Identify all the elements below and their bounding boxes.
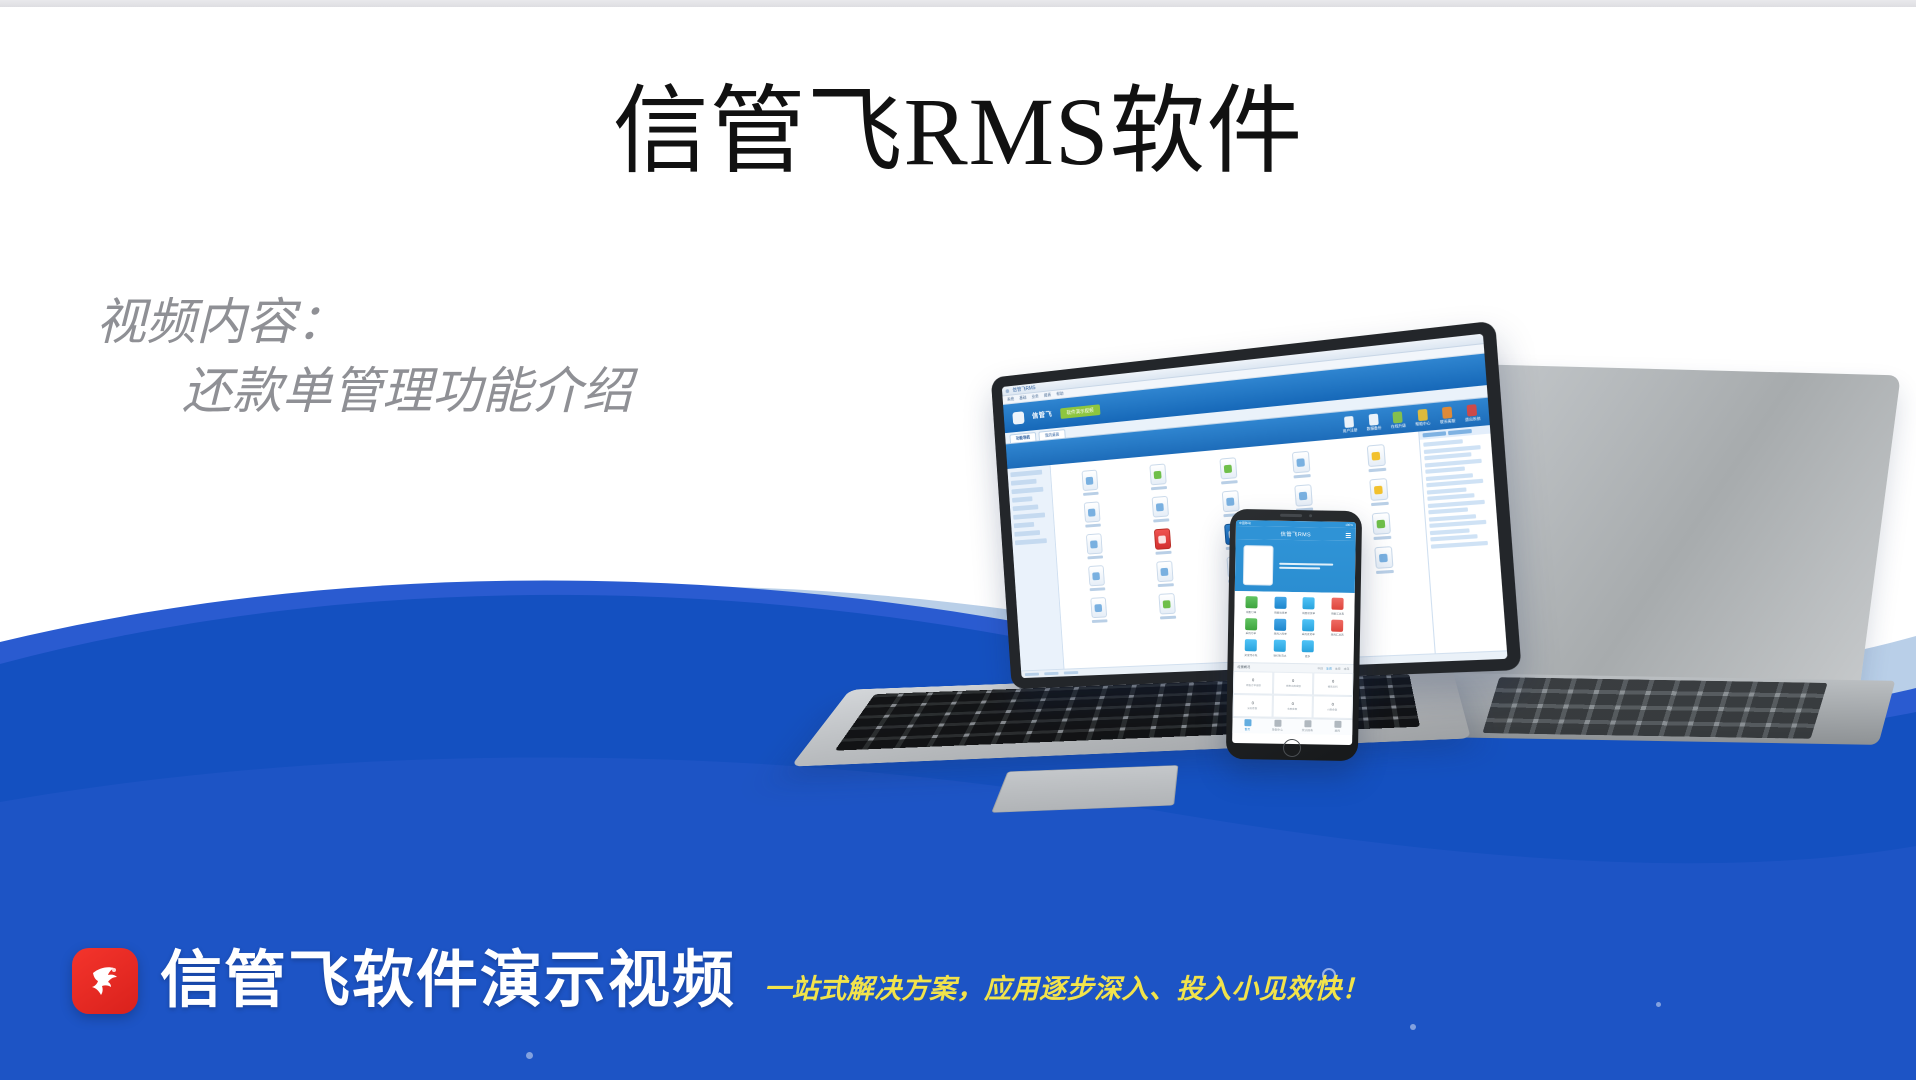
nav-documents[interactable]: 单据中心 [1262,719,1292,732]
mobile-grid-label: 采购订单 [1246,631,1256,635]
采购退货-icon [1221,490,1239,512]
right-panel-list [1420,434,1507,654]
销售出库-icon [1153,528,1170,550]
open-laptop: 信管飞RMS 系统 基础 业务 报表 帮助 信管飞 软件演示视频 [880,380,1530,900]
toolbar-label: 在线升级 [1391,423,1406,430]
mobile-grid-label: 更多 [1305,654,1310,658]
收款核销-icon [1371,512,1390,535]
stats-label: 销售毛利 [1328,685,1338,689]
sidebar-item-extra[interactable] [1015,538,1047,545]
mobile-hero-banner [1235,539,1356,593]
carrier-label: 中国移动 [1239,521,1251,525]
decor-dot-1 [526,1052,533,1059]
grid-label [1153,518,1169,522]
status-user [1044,672,1058,675]
brand-logo-icon [1012,411,1024,424]
toolbar-button[interactable]: 联系客服 [1439,406,1456,425]
status-ready [1025,673,1039,676]
list-item[interactable] [1430,528,1470,535]
brand-text: 信管飞 [1032,409,1053,421]
hamburger-menu-icon[interactable] [1346,531,1351,537]
mobile-grid-label: 采购汇总表 [1330,633,1343,637]
app-right-panel [1418,425,1507,653]
mobile-grid-label: 银行账流水 [1273,653,1286,657]
toolbar-label: 用户注册 [1343,427,1358,433]
toolbar-label: 帮助中心 [1415,421,1431,428]
grid-label [1160,616,1176,620]
user-register-icon [1344,415,1354,427]
app-window-title: 信管飞RMS [1012,384,1035,393]
stats-grid: 0销售订单金额 0销售出库金额 0销售毛利 0采购金额 0收款金额 0付款金额 [1233,670,1354,718]
调拨单-icon [1088,565,1105,586]
documents-icon [1274,719,1281,726]
toolbar-button[interactable]: 数据备份 [1366,413,1382,432]
grid-item[interactable] [1124,461,1191,492]
销售订单-icon [1085,533,1102,554]
exit-icon [1467,404,1478,416]
mobile-header: 信管飞RMS [1236,526,1356,541]
销售退货单-icon [1303,597,1315,609]
stats-value: 0 [1252,700,1254,705]
upgrade-icon [1393,411,1403,423]
toolbar-label: 退出系统 [1465,416,1481,423]
期初库存-icon [1374,546,1393,569]
现金银行-icon [1090,597,1107,618]
mobile-grid-label: 销售退货单 [1302,611,1315,615]
nav-label: 统计报表 [1302,728,1313,732]
speaker-icon [1280,514,1302,517]
客户资料-icon [1149,464,1166,486]
付款核销-icon [1369,478,1388,501]
mobile-grid-item[interactable]: 销售退货单 [1295,597,1322,615]
资金流水账-icon [1245,639,1257,651]
subtitle-block: 视频内容： 还款单管理功能介绍 [96,288,632,426]
stats-value: 0 [1332,701,1334,706]
stats-tab-month[interactable]: 本月 [1335,666,1341,670]
toolbar-button[interactable]: 在线升级 [1390,410,1406,429]
stats-cell[interactable]: 0付款金额 [1313,695,1353,719]
decor-dot-2 [1410,1024,1416,1030]
付款单-icon [1294,484,1313,507]
page-title: 信管飞RMS软件 [0,78,1916,186]
menu-item[interactable]: 报表 [1044,392,1051,398]
grid-label [1373,536,1391,540]
toolbar-button[interactable]: 帮助中心 [1414,408,1430,427]
grid-label [1293,474,1310,478]
grid-item[interactable] [1062,531,1127,561]
mobile-grid-item[interactable]: 采购入库单 [1266,618,1293,636]
grid-label [1221,480,1238,484]
help-icon [1417,408,1427,420]
grid-label [1091,619,1107,623]
采购订单-icon [1083,501,1100,522]
battery-label: 100% [1345,523,1353,527]
menu-item[interactable]: 基础 [1019,395,1026,401]
sidebar-item-basic[interactable] [1010,470,1042,478]
toolbar-button[interactable]: 退出系统 [1464,403,1481,422]
right-panel-tab[interactable] [1448,429,1472,435]
mobile-grid-item[interactable]: 采购退货单 [1295,619,1322,637]
hero-text-block [1279,562,1347,570]
xinguanfei-logo-icon [72,948,138,1014]
stats-cell[interactable]: 0采购金额 [1233,693,1273,717]
grid-item[interactable] [1265,448,1337,480]
hero-line [1279,562,1333,565]
grid-label [1085,524,1101,528]
home-icon [1244,719,1251,726]
sidebar-item-warehouse[interactable] [1012,496,1033,502]
chart-icon [1304,720,1311,727]
stats-value: 0 [1252,677,1254,682]
brand-tagline: 一站式解决方案，应用逐步深入、投入小见效快！ [764,967,1369,1014]
商品资料-icon [1081,470,1098,492]
mobile-grid-item[interactable]: 销售出库单 [1267,597,1294,615]
grid-item[interactable] [1057,467,1122,497]
grid-label [1368,468,1386,473]
stats-label: 销售出库金额 [1286,684,1301,688]
mobile-grid-label: 销售订单 [1246,610,1256,614]
toolbar-label: 联系客服 [1440,418,1456,425]
list-item[interactable] [1430,534,1478,541]
grid-label [1155,551,1171,555]
app-icon [1006,389,1010,393]
grid-item[interactable] [1066,596,1131,625]
smartphone-mockup: 中国移动 100% 信管飞RMS [1226,509,1362,761]
mobile-grid-label: 采购入库单 [1273,632,1286,636]
front-camera-icon [1309,514,1312,517]
stats-label: 付款金额 [1328,708,1338,712]
stats-title: 经营概况 [1237,664,1250,669]
list-item[interactable] [1425,466,1465,473]
toolbar-button[interactable]: 用户注册 [1342,415,1358,434]
sidebar-item-reports[interactable] [1013,512,1045,519]
grid-item[interactable] [1339,442,1413,475]
list-item[interactable] [1431,540,1488,548]
grid-label [1150,486,1166,490]
费用单-icon [1158,593,1175,615]
销售汇总表-icon [1331,598,1343,610]
mobile-grid-item[interactable]: 更多 [1295,640,1322,658]
grid-label [1087,555,1103,559]
销售订单-icon [1246,596,1258,608]
采购汇总表-icon [1331,619,1343,631]
stats-tab-week[interactable]: 本周 [1326,666,1332,670]
menu-item[interactable]: 业务 [1031,393,1038,399]
grid-item[interactable] [1131,559,1198,589]
grid-label [1089,587,1105,591]
subtitle-topic: 还款单管理功能介绍 [96,357,632,426]
stats-value: 0 [1292,678,1294,683]
backup-icon [1368,413,1378,425]
grid-item[interactable] [1133,592,1201,621]
grid-label [1375,570,1393,574]
stats-label: 收款金额 [1288,707,1298,711]
mobile-grid-item[interactable]: 销售汇总表 [1324,598,1351,616]
mobile-grid-item[interactable]: 销售订单 [1238,596,1265,614]
presentation-slide: 信管飞RMS软件 视频内容： 还款单管理功能介绍 信管飞RMS 系 [0,0,1916,1080]
grid-item[interactable] [1127,494,1194,525]
mobile-grid-item[interactable]: 采购订单 [1238,618,1265,636]
nav-label: 首页 [1244,727,1250,731]
status-version [1064,671,1079,674]
list-item[interactable] [1428,507,1468,514]
brand-title: 信管飞软件演示视频 [160,950,736,1012]
grid-item[interactable] [1059,499,1124,529]
menu-item[interactable]: 系统 [1007,396,1014,402]
grid-label [1370,502,1388,506]
grid-item[interactable] [1064,564,1129,593]
sidebar-item-extra[interactable] [1014,530,1040,537]
stats-cell[interactable]: 0销售毛利 [1313,672,1353,696]
盘点单-icon [1156,561,1173,583]
laptop-trackpad [991,765,1178,813]
stats-period-tabs: 今日 本周 本月 本年 [1317,666,1349,671]
仓库资料-icon [1291,451,1310,474]
nav-reports[interactable]: 统计报表 [1292,720,1322,733]
mobile-grid-label: 销售汇总表 [1331,611,1344,615]
stats-cell[interactable]: 0收款金额 [1273,694,1313,718]
brand-badge: 软件演示视频 [1060,404,1100,419]
grid-item[interactable] [1194,455,1263,487]
list-item[interactable] [1428,499,1485,507]
采购退货单-icon [1302,619,1314,631]
list-item[interactable] [1427,493,1475,501]
subtitle-label: 视频内容： [96,288,632,357]
nav-home[interactable]: 首页 [1232,719,1262,732]
stats-cell[interactable]: 0销售出库金额 [1273,671,1313,695]
mobile-app-screen: 中国移动 100% 信管飞RMS [1232,520,1356,745]
list-item[interactable] [1426,479,1483,488]
sidebar-item-purchase[interactable] [1011,479,1037,486]
销售出库单-icon [1274,597,1286,609]
sidebar-item-finance[interactable] [1013,504,1039,511]
grid-label [1083,492,1099,496]
员工资料-icon [1366,444,1385,467]
closed-laptop-keyboard [1482,677,1827,739]
stats-tab-today[interactable]: 今日 [1317,666,1323,670]
stats-cell[interactable]: 0销售订单金额 [1233,670,1273,694]
stats-value: 0 [1292,701,1294,706]
menu-item[interactable]: 帮助 [1056,391,1064,397]
decor-dot-3 [1656,1002,1661,1007]
采购入库单-icon [1274,618,1286,630]
mobile-stats-section: 经营概况 今日 本周 本月 本年 0销售订单金额 0销售出库金额 0销售毛利 0… [1233,661,1354,718]
list-item[interactable] [1423,439,1463,447]
银行账流水-icon [1273,640,1285,652]
mobile-app-title: 信管飞RMS [1280,529,1311,538]
nav-profile[interactable]: 我的 [1322,720,1352,733]
device-mockup-cluster: 信管飞RMS 系统 基础 业务 报表 帮助 信管飞 软件演示视频 [880,380,1890,950]
right-panel-title [1423,431,1447,437]
window-chrome-bar [0,0,1916,7]
mobile-grid-item[interactable]: 银行账流水 [1266,640,1293,658]
mobile-function-grid: 销售订单 销售出库单 销售退货单 销售汇总表 采购订单 采购入库单 采购退货单 … [1234,591,1355,664]
nav-label: 我的 [1334,729,1340,733]
list-item[interactable] [1429,520,1486,528]
support-icon [1442,406,1452,418]
stats-label: 采购金额 [1248,707,1258,711]
stats-label: 销售订单金额 [1246,684,1261,688]
bottom-banner: 信管飞软件演示视频 一站式解决方案，应用逐步深入、投入小见效快！ [72,948,1369,1014]
person-icon [1334,720,1341,727]
grid-label [1157,583,1173,587]
供应商-icon [1219,457,1237,479]
sidebar-item-sales[interactable] [1011,487,1043,494]
toolbar-label: 数据备份 [1367,425,1382,432]
mobile-grid-item[interactable]: 资金流水账 [1238,639,1265,657]
sidebar-item-settings[interactable] [1014,522,1035,528]
home-button-icon[interactable] [1283,739,1301,757]
hero-phone-illustration [1243,545,1274,586]
grid-item[interactable] [1129,526,1196,556]
phone-earpiece-row [1230,513,1362,518]
grid-item[interactable] [1342,476,1416,508]
采购入库-icon [1151,496,1168,518]
采购订单-icon [1245,618,1257,630]
mobile-bottom-nav: 首页 单据中心 统计报表 我的 [1232,716,1352,734]
more-icon [1302,640,1314,652]
mobile-grid-label: 采购退货单 [1302,632,1315,636]
stats-tab-year[interactable]: 本年 [1344,666,1350,670]
hero-line [1279,567,1320,570]
mobile-grid-item[interactable]: 采购汇总表 [1323,619,1350,637]
stats-value: 0 [1332,678,1334,683]
nav-label: 单据中心 [1272,728,1283,732]
list-item[interactable] [1427,487,1467,494]
mobile-grid-label: 销售出库单 [1274,610,1287,614]
mobile-grid-label: 资金流水账 [1244,653,1257,657]
